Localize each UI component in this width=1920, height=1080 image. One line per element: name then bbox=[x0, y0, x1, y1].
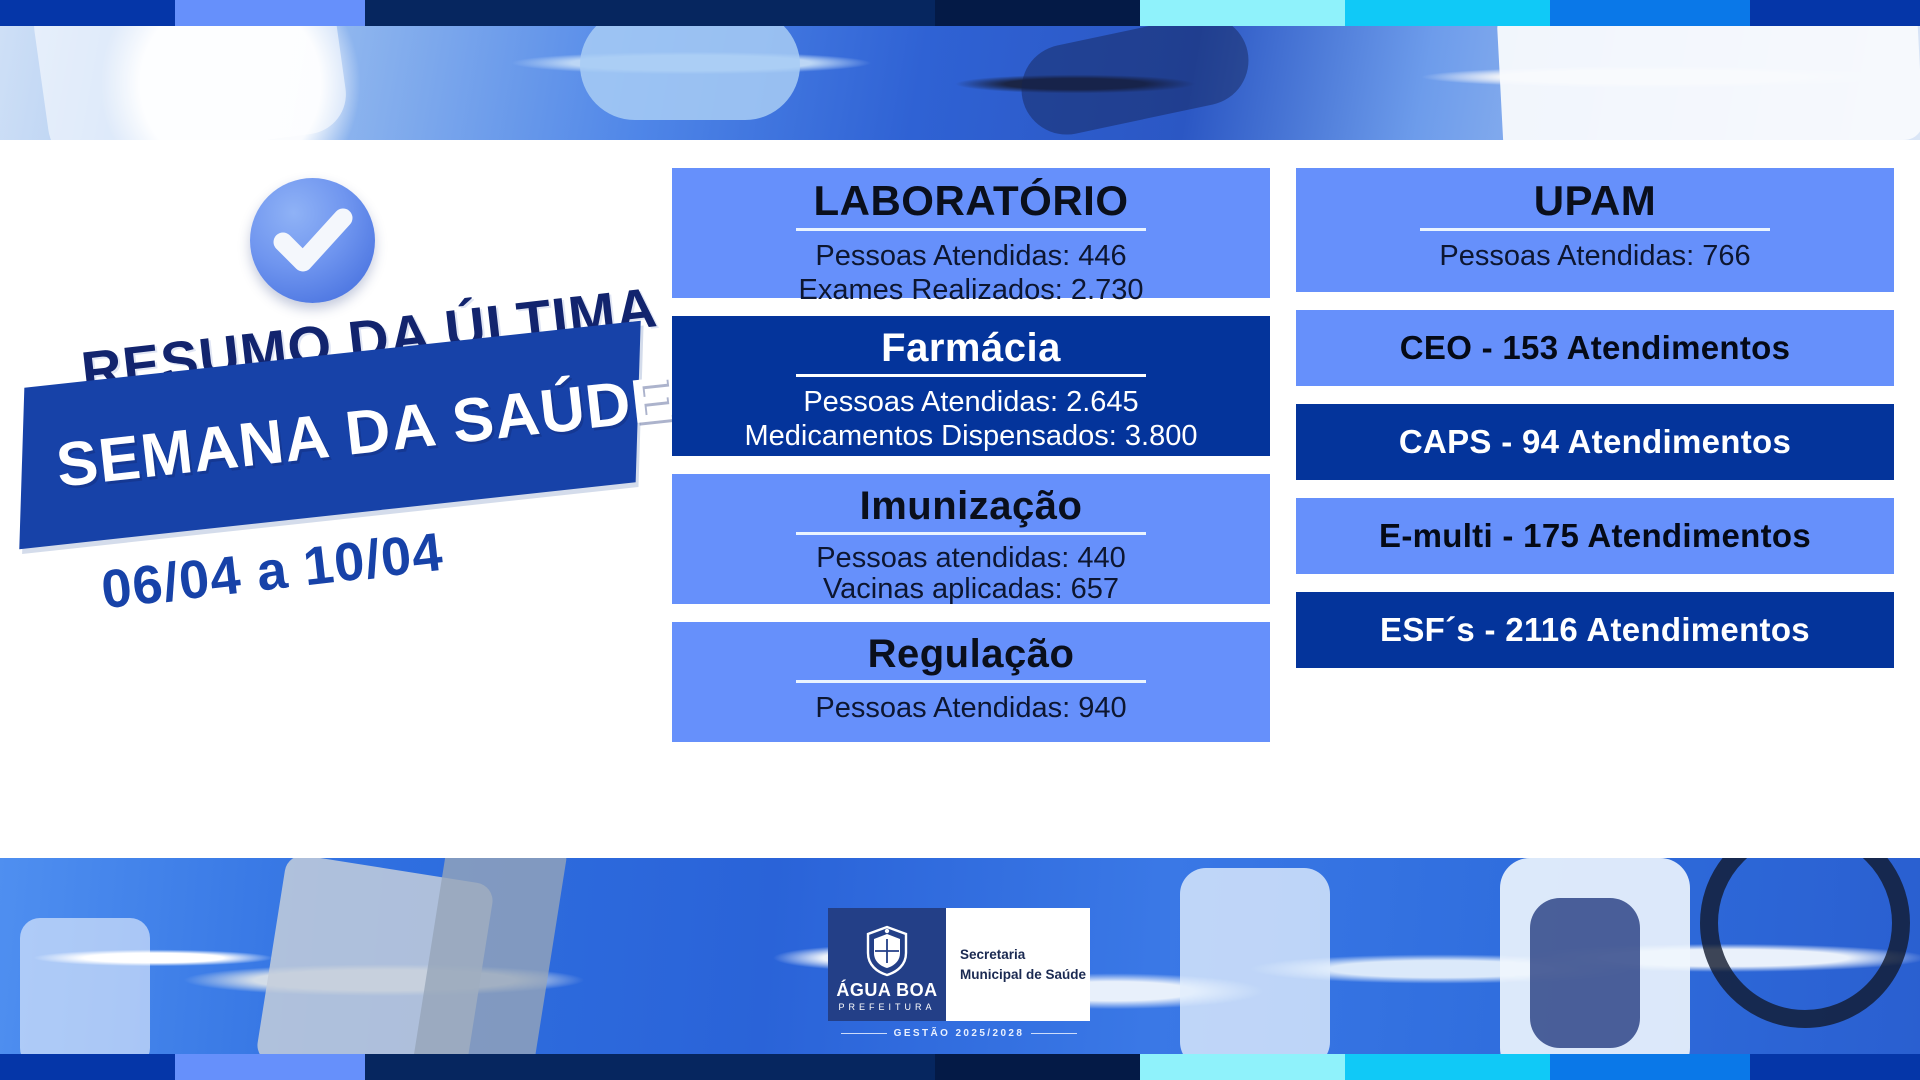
strip-segment bbox=[1550, 0, 1750, 26]
card-upam: UPAM Pessoas Atendidas: 766 bbox=[1296, 168, 1894, 292]
card-stat: Pessoas Atendidas: 766 bbox=[1312, 239, 1878, 273]
strip-segment bbox=[1750, 0, 1920, 26]
strip-segment bbox=[1750, 1054, 1920, 1080]
card-rule bbox=[796, 680, 1147, 683]
card-farmacia: Farmácia Pessoas Atendidas: 2.645 Medica… bbox=[672, 316, 1270, 456]
card-stat: Pessoas Atendidas: 940 bbox=[688, 691, 1254, 725]
card-stat: Pessoas atendidas: 440 bbox=[688, 543, 1254, 574]
card-rule bbox=[796, 374, 1147, 377]
strip-segment bbox=[1140, 0, 1345, 26]
decor-shape bbox=[1700, 858, 1910, 1028]
top-color-strip bbox=[0, 0, 1920, 26]
logo-department-block: Secretaria Municipal de Saúde bbox=[946, 908, 1090, 1021]
strip-segment bbox=[175, 0, 365, 26]
logo-city-block: ÁGUA BOA PREFEITURA bbox=[828, 908, 946, 1021]
row-esf: ESF´s - 2116 Atendimentos bbox=[1296, 592, 1894, 668]
footer-logo: ÁGUA BOA PREFEITURA Secretaria Municipal… bbox=[828, 908, 1090, 1039]
card-stat: Vacinas aplicadas: 657 bbox=[688, 574, 1254, 605]
coat-of-arms-icon bbox=[864, 925, 910, 977]
card-title: UPAM bbox=[1312, 178, 1878, 224]
strip-segment bbox=[1345, 0, 1550, 26]
strip-segment bbox=[1345, 1054, 1550, 1080]
strip-segment bbox=[365, 1054, 935, 1080]
card-stat: Pessoas Atendidas: 2.645 bbox=[688, 385, 1254, 419]
gestao-label: GESTÃO 2025/2028 bbox=[828, 1028, 1090, 1039]
strip-segment bbox=[365, 0, 935, 26]
right-card-column: UPAM Pessoas Atendidas: 766 CEO - 153 At… bbox=[1296, 168, 1894, 686]
row-ceo: CEO - 153 Atendimentos bbox=[1296, 310, 1894, 386]
content-area: RESUMO DA ÚLTIMA SEMANA DA SAÚDE 06/04 a… bbox=[0, 140, 1920, 858]
strip-segment bbox=[1550, 1054, 1750, 1080]
decor-shape bbox=[1013, 7, 1257, 140]
row-emulti: E-multi - 175 Atendimentos bbox=[1296, 498, 1894, 574]
decor-shape bbox=[20, 918, 150, 1068]
row-caps: CAPS - 94 Atendimentos bbox=[1296, 404, 1894, 480]
logo-card: ÁGUA BOA PREFEITURA Secretaria Municipal… bbox=[828, 908, 1090, 1021]
bottom-color-strip bbox=[0, 1054, 1920, 1080]
card-stat: Medicamentos Dispensados: 3.800 bbox=[688, 419, 1254, 453]
logo-city-sub: PREFEITURA bbox=[838, 1002, 935, 1012]
gestao-text: GESTÃO 2025/2028 bbox=[894, 1028, 1025, 1039]
card-imunizacao: Imunização Pessoas atendidas: 440 Vacina… bbox=[672, 474, 1270, 604]
logo-city-name: ÁGUA BOA bbox=[836, 981, 937, 999]
decor-shape bbox=[1180, 868, 1330, 1068]
gestao-rule-left bbox=[841, 1033, 887, 1034]
card-laboratorio: LABORATÓRIO Pessoas Atendidas: 446 Exame… bbox=[672, 168, 1270, 298]
card-rule bbox=[796, 532, 1147, 535]
decor-shape bbox=[580, 10, 800, 120]
card-rule bbox=[1420, 228, 1771, 231]
check-mark-glyph bbox=[250, 178, 375, 303]
card-title: LABORATÓRIO bbox=[688, 178, 1254, 224]
card-rule bbox=[796, 228, 1147, 231]
strip-segment bbox=[0, 0, 175, 26]
decor-shape bbox=[1530, 898, 1640, 1048]
strip-segment bbox=[1140, 1054, 1345, 1080]
card-regulacao: Regulação Pessoas Atendidas: 940 bbox=[672, 622, 1270, 742]
hero-title-block: RESUMO DA ÚLTIMA SEMANA DA SAÚDE 06/04 a… bbox=[0, 160, 660, 800]
strip-segment bbox=[935, 0, 1140, 26]
strip-segment bbox=[935, 1054, 1140, 1080]
gestao-rule-right bbox=[1031, 1033, 1077, 1034]
check-circle-icon bbox=[250, 178, 375, 303]
strip-segment bbox=[0, 1054, 175, 1080]
card-stat: Exames Realizados: 2.730 bbox=[688, 273, 1254, 307]
strip-segment bbox=[175, 1054, 365, 1080]
card-stat: Pessoas Atendidas: 446 bbox=[688, 239, 1254, 273]
logo-department-name: Secretaria Municipal de Saúde bbox=[960, 945, 1090, 984]
left-card-column: LABORATÓRIO Pessoas Atendidas: 446 Exame… bbox=[672, 168, 1270, 760]
card-title: Regulação bbox=[688, 632, 1254, 676]
card-title: Imunização bbox=[688, 484, 1254, 528]
card-title: Farmácia bbox=[688, 326, 1254, 370]
